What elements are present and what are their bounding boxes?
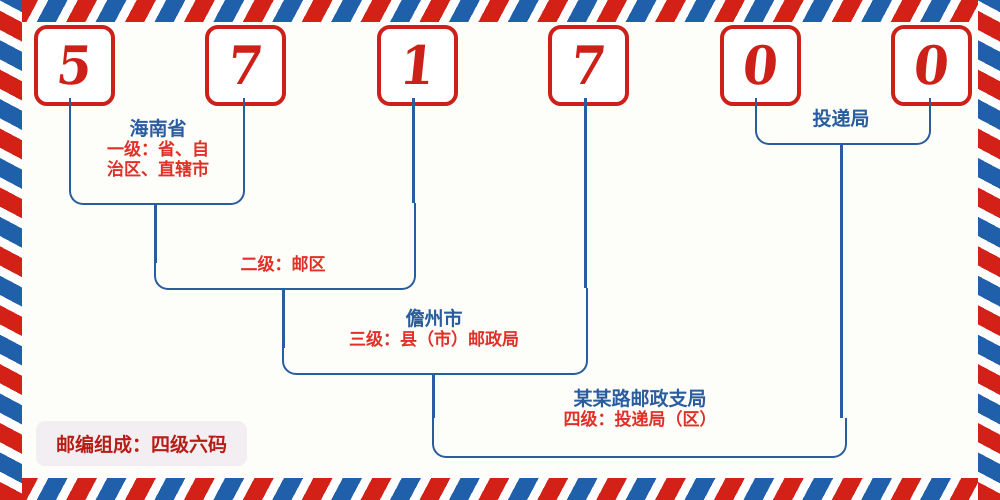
digit-glyph-4: 7 bbox=[568, 39, 608, 92]
digit-glyph-5: 0 bbox=[740, 39, 780, 92]
label-title-level-3: 儋州市 bbox=[300, 308, 568, 330]
label-group-level-1: 海南省 一级：省、自 治区、直辖市 bbox=[60, 118, 256, 181]
label-title-level-4: 某某路邮政支局 bbox=[500, 388, 780, 410]
digit-glyph-2: 7 bbox=[225, 39, 265, 92]
stem-delivery-office bbox=[840, 143, 843, 418]
digit-box-5[interactable]: 0 bbox=[720, 25, 801, 106]
label-subtitle-level-2: 二级：邮区 bbox=[185, 255, 381, 275]
digit-box-1[interactable]: 5 bbox=[34, 25, 115, 106]
label-group-level-4: 某某路邮政支局 四级：投递局（区） bbox=[500, 388, 780, 430]
status-badge: 邮编组成：四级六码 bbox=[36, 421, 247, 466]
label-subtitle-level-1-line-1: 一级：省、自 bbox=[60, 140, 256, 160]
label-title-level-1: 海南省 bbox=[60, 118, 256, 140]
label-title-delivery-office: 投递局 bbox=[760, 108, 922, 130]
bracket-level-2 bbox=[154, 203, 416, 290]
stem-digit-4 bbox=[584, 98, 587, 288]
label-subtitle-level-3: 三级：县（市）邮政局 bbox=[300, 330, 568, 350]
digit-box-2[interactable]: 7 bbox=[205, 25, 286, 106]
digit-box-6[interactable]: 0 bbox=[891, 25, 972, 106]
label-subtitle-level-1-line-2: 治区、直辖市 bbox=[60, 160, 256, 180]
digit-glyph-3: 1 bbox=[397, 39, 437, 92]
label-subtitle-level-4: 四级：投递局（区） bbox=[500, 410, 780, 430]
stem-level-3 bbox=[432, 373, 435, 418]
airmail-border-top bbox=[0, 0, 1000, 22]
airmail-border-right bbox=[978, 0, 1000, 500]
label-group-level-2: 二级：邮区 bbox=[185, 255, 381, 275]
digit-box-3[interactable]: 1 bbox=[377, 25, 458, 106]
postcode-diagram: 5 7 1 7 0 0 海南省 一级：省、自 治区、直辖市 二级：邮区 儋州市 … bbox=[0, 0, 1000, 500]
digit-glyph-1: 5 bbox=[54, 39, 94, 92]
stem-digit-3 bbox=[412, 98, 415, 203]
digit-box-4[interactable]: 7 bbox=[548, 25, 629, 106]
airmail-border-left bbox=[0, 0, 22, 500]
label-group-level-3: 儋州市 三级：县（市）邮政局 bbox=[300, 308, 568, 350]
digit-glyph-6: 0 bbox=[911, 39, 951, 92]
airmail-border-bottom bbox=[0, 478, 1000, 500]
label-group-delivery-office: 投递局 bbox=[760, 108, 922, 130]
